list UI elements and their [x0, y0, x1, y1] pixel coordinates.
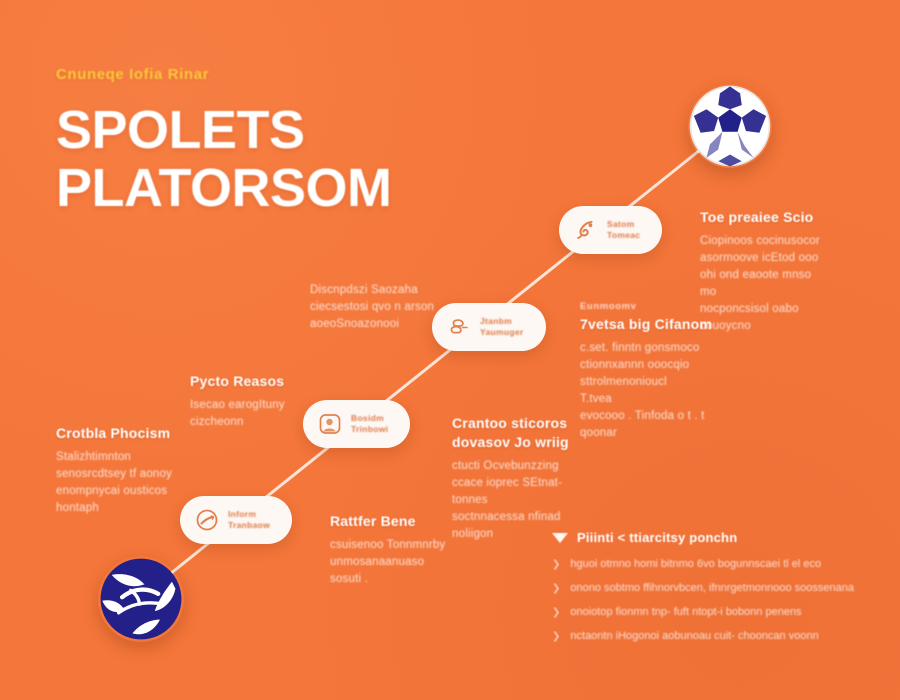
text-block-pycto: Pycto Reasos Isecao earogItuny cizcheonn: [190, 372, 365, 431]
bullet-panel-header: Piiinti < ttiarcitsy ponchn: [552, 530, 882, 545]
chevron-right-icon: ❯: [552, 557, 560, 572]
text-block-dicho: Discnpdszi Saozaha ciecsestosi qvo n ars…: [310, 282, 485, 333]
soccer-ball-bottom-icon: [98, 556, 184, 642]
chevron-right-icon: ❯: [552, 605, 560, 620]
right-mid-body: c.set. finntn gonsmoco ctionnxannn ooocq…: [580, 340, 770, 442]
credible-body: Stalizhtimnton senosrcdtsey tf aonoy eno…: [56, 449, 246, 517]
headline-block: Cnuneqe Iofia Rinar SPOLETS PLATORSOM: [56, 66, 486, 217]
list-item: ❯ nctaontn iHogonoi aobunoau cuit- choon…: [552, 629, 882, 644]
node-3-label-line1: Jtanbm: [480, 316, 524, 327]
bullet-text: nctaontn iHogonoi aobunoau cuit- choonca…: [570, 629, 818, 644]
right-top-heading: Toe preaiee Scio: [700, 208, 870, 227]
node-4-label-line2: Tomeac: [607, 230, 640, 241]
bullet-text: hguoi otmno homi bitnmo 6vo bogunnscaei …: [570, 557, 821, 572]
bullet-panel-title: Piiinti < ttiarcitsy ponchn: [577, 530, 737, 545]
rocket-icon: [574, 218, 598, 242]
pycto-body: Isecao earogItuny cizcheonn: [190, 397, 365, 431]
timeline-node-4[interactable]: Satom Tomeac: [559, 206, 662, 254]
rattler-body: csuisenoo Tonnmnrby unmosanaanuaso sosut…: [330, 537, 530, 588]
pycto-heading: Pycto Reasos: [190, 372, 365, 391]
eyebrow-label: Cnuneqe Iofia Rinar: [56, 66, 486, 83]
chevron-right-icon: ❯: [552, 629, 560, 644]
node-3-label-line2: Yaumuger: [480, 327, 524, 338]
node-4-label: Satom Tomeac: [607, 219, 640, 241]
triangle-down-icon: [552, 533, 568, 543]
list-item: ❯ onono sobtmo ffihnorvbcen, ifnnrgetmon…: [552, 581, 882, 596]
bullet-panel: Piiinti < ttiarcitsy ponchn ❯ hguoi otmn…: [552, 530, 882, 653]
node-4-label-line1: Satom: [607, 219, 640, 230]
node-1-label-line2: Tranbaow: [228, 520, 270, 531]
bullet-text: onono sobtmo ffihnorvbcen, ifnnrgetmonno…: [570, 581, 854, 596]
list-item: ❯ onoiotop fionmn tnp- fuft ntopt-i bobo…: [552, 605, 882, 620]
page-title: SPOLETS PLATORSOM: [56, 101, 486, 217]
bullet-list: ❯ hguoi otmno homi bitnmo 6vo bogunnscae…: [552, 557, 882, 644]
node-3-label: Jtanbm Yaumuger: [480, 316, 524, 338]
text-block-credible: Crotbla Phocism Stalizhtimnton senosrcdt…: [56, 424, 246, 517]
list-item: ❯ hguoi otmno homi bitnmo 6vo bogunnscae…: [552, 557, 882, 572]
chevron-right-icon: ❯: [552, 581, 560, 596]
right-mid-heading: 7vetsa big Cifanom: [580, 315, 770, 334]
dicho-body: Discnpdszi Saozaha ciecsestosi qvo n ars…: [310, 282, 485, 333]
right-mid-eyebrow: Eunmoomv: [580, 300, 770, 313]
infographic-canvas: Cnuneqe Iofia Rinar SPOLETS PLATORSOM: [0, 0, 900, 700]
text-block-right-mid: Eunmoomv 7vetsa big Cifanom c.set. finnt…: [580, 300, 770, 442]
soccer-ball-top-icon: [688, 84, 772, 168]
bullet-text: onoiotop fionmn tnp- fuft ntopt-i bobonn…: [570, 605, 801, 620]
